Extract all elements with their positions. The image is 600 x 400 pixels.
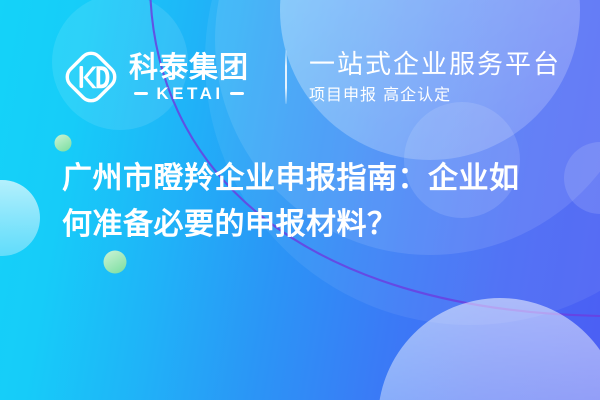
headline-line-2: 何准备必要的申报材料？ [62, 202, 542, 248]
header-divider [285, 50, 287, 104]
decor-green-dot-small [55, 135, 72, 152]
decor-cyan-bubble-left [0, 180, 40, 256]
dash-left-icon [134, 92, 148, 95]
brand-logo: 科泰集团 KETAI [62, 48, 277, 106]
brand-name-cn: 科泰集团 [129, 52, 249, 82]
tagline-block: 一站式企业服务平台 项目申报 高企认定 [309, 49, 561, 106]
banner-header: 科泰集团 KETAI 一站式企业服务平台 项目申报 高企认定 [0, 34, 600, 120]
ketai-diamond-kd-logo-icon [62, 48, 120, 106]
tagline-main: 一站式企业服务平台 [309, 49, 561, 81]
brand-name-en-row: KETAI [129, 85, 249, 103]
dash-right-icon [230, 92, 244, 95]
headline-line-1: 广州市瞪羚企业申报指南：企业如 [62, 156, 542, 202]
decor-bubble-right-edge [564, 142, 600, 214]
decor-bubble-lower-right [378, 298, 600, 400]
page-title: 广州市瞪羚企业申报指南：企业如 何准备必要的申报材料？ [62, 156, 542, 248]
decor-green-dot-large [104, 251, 127, 274]
promo-banner: 科泰集团 KETAI 一站式企业服务平台 项目申报 高企认定 广州市瞪羚企业申报… [0, 0, 600, 400]
brand-name-en: KETAI [156, 85, 223, 103]
tagline-sub: 项目申报 高企认定 [309, 84, 561, 106]
brand-wordmark: 科泰集团 KETAI [129, 52, 249, 103]
